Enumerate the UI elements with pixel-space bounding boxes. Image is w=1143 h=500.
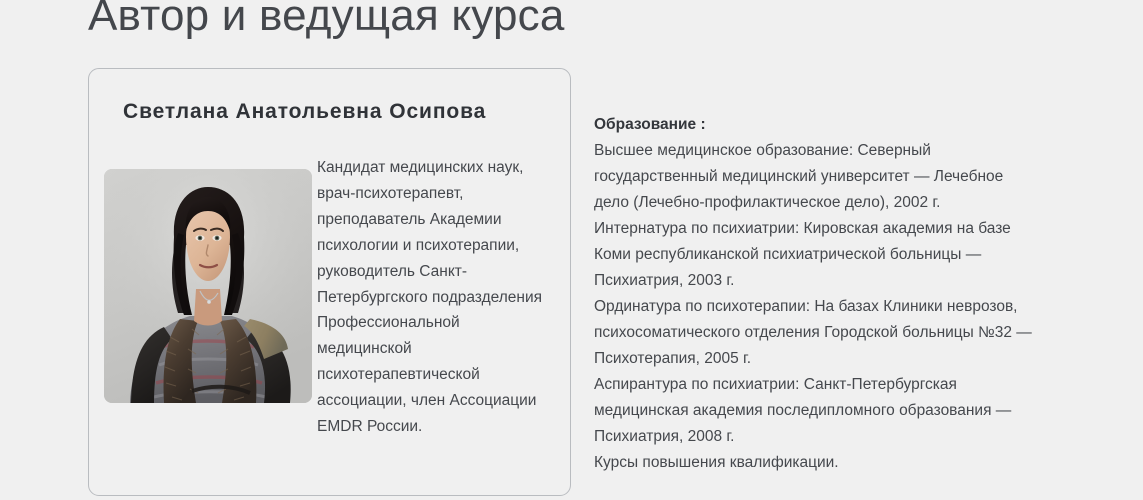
education-line: Психотерапия, 2005 г. (594, 346, 1094, 372)
education-line: Психиатрия, 2003 г. (594, 268, 1094, 294)
author-name: Светлана Анатольевна Осипова (123, 100, 486, 124)
education-line: дело (Лечебно-профилактическое дело), 20… (594, 190, 1094, 216)
education-line: Интернатура по психиатрии: Кировская ака… (594, 216, 1094, 242)
education-heading: Образование : (594, 112, 1094, 138)
page-root: Автор и ведущая курса Светлана Анатольев… (0, 0, 1143, 500)
author-bio-text: Кандидат медицинских наук, врач-психотер… (317, 155, 557, 440)
education-line: медицинская академия последипломного обр… (594, 398, 1094, 424)
author-photo (104, 169, 312, 403)
education-line: Высшее медицинское образование: Северный (594, 138, 1094, 164)
education-line: государственный медицинский университет … (594, 164, 1094, 190)
education-line: Коми республиканской психиатрической бол… (594, 242, 1094, 268)
author-bio: Кандидат медицинских наук, врач-психотер… (317, 155, 557, 440)
author-card: Светлана Анатольевна Осипова (88, 68, 571, 496)
education-line: психосоматического отделения Городской б… (594, 320, 1094, 346)
education-line: Курсы повышения квалификации. (594, 450, 1094, 476)
education-line: Аспирантура по психиатрии: Санкт-Петербу… (594, 372, 1094, 398)
education-line: Ординатура по психотерапии: На базах Кли… (594, 294, 1094, 320)
education-line: Психиатрия, 2008 г. (594, 424, 1094, 450)
page-title: Автор и ведущая курса (88, 0, 565, 44)
education-section: Образование : Высшее медицинское образов… (594, 112, 1094, 476)
